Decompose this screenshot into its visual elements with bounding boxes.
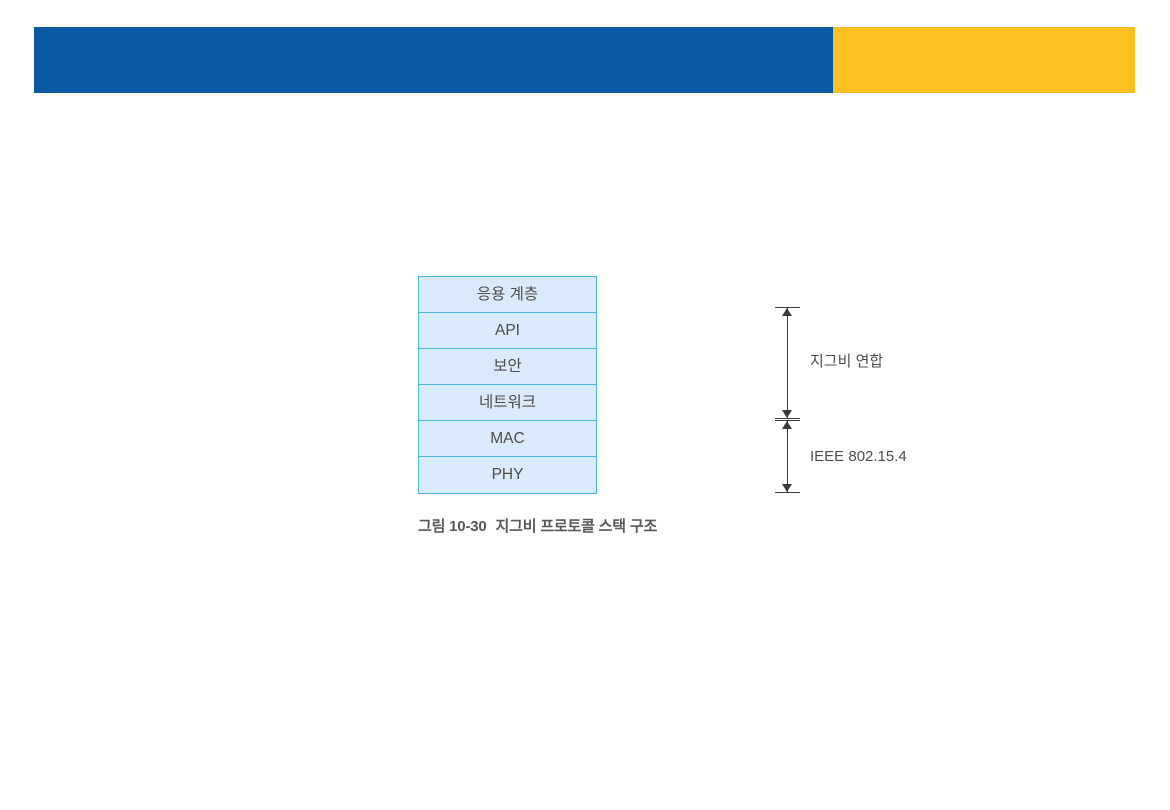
stack-layer-network: 네트워크	[419, 385, 596, 421]
header-decorative-bar	[34, 27, 1135, 93]
arrow-up-icon	[782, 421, 792, 429]
figure-caption: 그림 10-30지그비 프로토콜 스택 구조	[418, 515, 657, 536]
arrow-down-icon	[782, 410, 792, 418]
header-bar-primary-segment	[34, 27, 833, 93]
header-bar-accent-segment	[833, 27, 1135, 93]
stack-wrapper: 응용 계층 API 보안 네트워크 MAC PHY 지그비 연합	[418, 276, 898, 494]
arrow-down-icon	[782, 484, 792, 492]
range-label-zigbee-alliance: 지그비 연합	[810, 350, 883, 371]
range-indicators: 지그비 연합 IEEE 802.15.4	[597, 276, 897, 493]
range-label-ieee: IEEE 802.15.4	[810, 448, 907, 465]
protocol-stack-boxes: 응용 계층 API 보안 네트워크 MAC PHY	[418, 276, 597, 494]
figure-caption-text: 지그비 프로토콜 스택 구조	[496, 518, 658, 535]
stack-layer-mac: MAC	[419, 421, 596, 457]
protocol-stack-figure: 응용 계층 API 보안 네트워크 MAC PHY 지그비 연합	[418, 276, 898, 494]
range-line-vertical	[787, 307, 788, 418]
range-cap-bottom-icon	[775, 492, 800, 493]
slide-page: { "page": { "background": "#ffffff", "wi…	[0, 0, 1170, 810]
stack-layer-security: 보안	[419, 349, 596, 385]
figure-caption-number: 그림 10-30	[418, 518, 487, 535]
range-line-vertical	[787, 420, 788, 492]
arrow-up-icon	[782, 308, 792, 316]
stack-layer-api: API	[419, 313, 596, 349]
stack-layer-phy: PHY	[419, 457, 596, 493]
range-cap-bottom-icon	[775, 418, 800, 419]
stack-layer-application: 응용 계층	[419, 277, 596, 313]
